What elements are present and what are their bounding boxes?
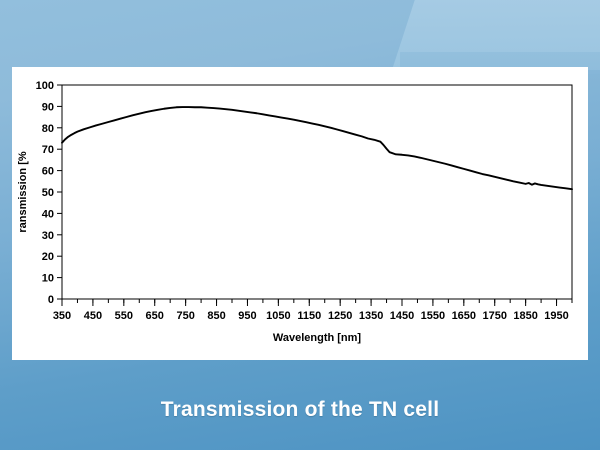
y-axis-title: ransmission [% [17,151,29,233]
x-axis-title: Wavelength [nm] [273,332,362,344]
y-tick-label-10: 10 [42,273,54,285]
chart-panel: 0102030405060708090100350450550650750850… [12,67,588,360]
y-tick-label-70: 70 [42,144,54,156]
x-tick-label-750: 750 [176,310,194,322]
y-tick-label-30: 30 [42,230,54,242]
y-tick-label-20: 20 [42,251,54,263]
x-tick-label-1650: 1650 [452,310,476,322]
slide-canvas: 0102030405060708090100350450550650750850… [0,0,600,450]
x-tick-label-1950: 1950 [544,310,568,322]
y-tick-label-90: 90 [42,101,54,113]
x-tick-label-850: 850 [207,310,225,322]
plot-frame [62,85,572,299]
x-tick-label-1150: 1150 [297,310,321,322]
x-tick-label-650: 650 [146,310,164,322]
x-tick-label-550: 550 [115,310,133,322]
x-tick-label-1750: 1750 [482,310,506,322]
y-tick-label-60: 60 [42,166,54,178]
x-tick-label-450: 450 [84,310,102,322]
y-tick-label-50: 50 [42,187,54,199]
x-tick-label-950: 950 [238,310,256,322]
transmission-chart: 0102030405060708090100350450550650750850… [12,67,588,360]
transmission-curve [62,107,572,189]
x-tick-label-350: 350 [53,310,71,322]
x-tick-label-1350: 1350 [359,310,383,322]
x-tick-label-1450: 1450 [390,310,414,322]
x-tick-label-1050: 1050 [266,310,290,322]
slide-title: Transmission of the TN cell [0,398,600,422]
y-tick-label-0: 0 [48,294,54,306]
y-tick-label-100: 100 [36,80,54,92]
x-tick-label-1850: 1850 [513,310,537,322]
x-tick-label-1550: 1550 [421,310,445,322]
x-tick-label-1250: 1250 [328,310,352,322]
y-tick-label-40: 40 [42,208,54,220]
y-tick-label-80: 80 [42,123,54,135]
